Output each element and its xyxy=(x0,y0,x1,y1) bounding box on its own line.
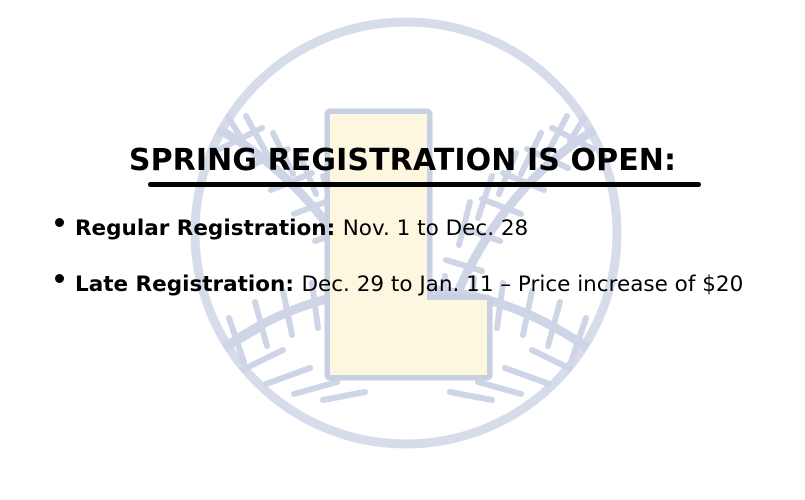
bullet-dot-icon xyxy=(55,218,64,227)
page-title-block: SPRING REGISTRATION IS OPEN: xyxy=(0,142,805,180)
bullet-label: Late Registration: xyxy=(75,272,301,297)
bullet-text: Regular Registration: Nov. 1 to Dec. 28 xyxy=(75,214,528,244)
list-item: Late Registration: Dec. 29 to Jan. 11 – … xyxy=(55,270,795,300)
bullet-value: Nov. 1 to Dec. 28 xyxy=(343,216,529,241)
bullet-text: Late Registration: Dec. 29 to Jan. 11 – … xyxy=(75,270,743,300)
bullet-value: Dec. 29 to Jan. 11 – Price increase of $… xyxy=(301,272,743,297)
slide-canvas: SPRING REGISTRATION IS OPEN: Regular Reg… xyxy=(0,0,805,500)
list-item: Regular Registration: Nov. 1 to Dec. 28 xyxy=(55,214,795,244)
bullet-label: Regular Registration: xyxy=(75,216,343,241)
bullet-dot-icon xyxy=(55,274,64,283)
bullet-list: Regular Registration: Nov. 1 to Dec. 28 … xyxy=(55,214,795,326)
page-title: SPRING REGISTRATION IS OPEN: xyxy=(129,143,676,178)
title-underline-rule xyxy=(148,182,701,187)
